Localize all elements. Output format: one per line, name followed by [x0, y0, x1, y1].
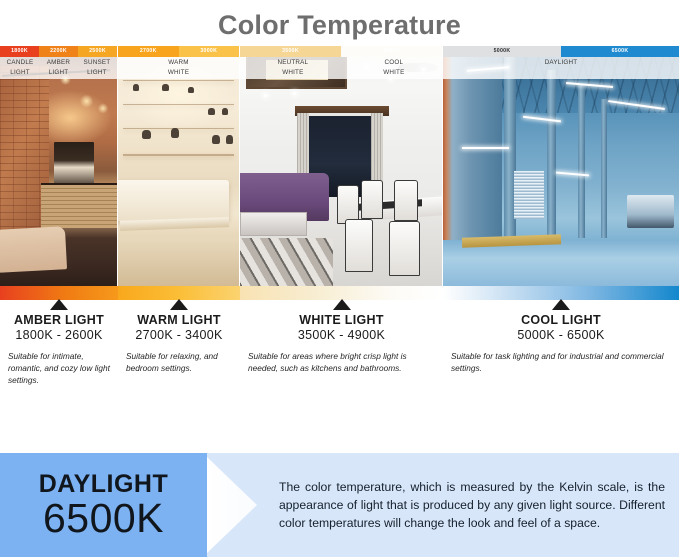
kelvin-name-neutral-white: NEUTRAL WHITE [240, 57, 346, 79]
caption-cool-light: COOL LIGHT 5000K - 6500K Suitable for ta… [443, 300, 679, 400]
caption-range: 1800K - 2600K [8, 328, 110, 342]
caption-description: Suitable for areas where bright crisp li… [248, 350, 435, 374]
panel-photo-cafe [0, 46, 117, 286]
panel-candle-amber-sunset: 1800K 2200K 2500K CANDLE LIGHT AMBER LIG… [0, 46, 118, 286]
daylight-summary-panel: DAYLIGHT 6500K The color temperature, wh… [0, 453, 679, 557]
daylight-description-text: The color temperature, which is measured… [279, 478, 665, 532]
daylight-kelvin-value: 6500K [43, 496, 164, 540]
kelvin-band-row-4: 5000K 6500K [443, 46, 679, 57]
kelvin-band-6500k: 6500K [561, 46, 679, 57]
kelvin-band-5000k: 5000K [443, 46, 561, 57]
kelvin-name-row-1: CANDLE LIGHT AMBER LIGHT SUNSET LIGHT [0, 57, 117, 79]
panel-photo-living-room [118, 46, 239, 286]
page-title: Color Temperature [0, 0, 679, 46]
kelvin-band-2200k: 2200K [39, 46, 78, 57]
kelvin-name-line2: WHITE [240, 68, 346, 78]
kelvin-name-row-4: DAYLIGHT [443, 57, 679, 79]
kelvin-band-1800k: 1800K [0, 46, 39, 57]
caption-range: 2700K - 3400K [126, 328, 232, 342]
kelvin-name-row-2: WARM WHITE [118, 57, 239, 79]
kelvin-name-line1: AMBER [40, 58, 77, 68]
chevron-right-icon [207, 453, 265, 557]
kelvin-name-line1: NEUTRAL [240, 58, 346, 68]
caption-white-light: WHITE LIGHT 3500K - 4900K Suitable for a… [240, 300, 443, 400]
panel-neutral-cool-white: 3500K 4000K NEUTRAL WHITE COOL WHITE [240, 46, 443, 286]
caption-row: AMBER LIGHT 1800K - 2600K Suitable for i… [0, 300, 679, 400]
kelvin-band-row-1: 1800K 2200K 2500K [0, 46, 117, 57]
caption-title: AMBER LIGHT [8, 313, 110, 327]
kelvin-name-line2: LIGHT [0, 68, 40, 78]
kelvin-name-line2: WHITE [346, 68, 442, 78]
daylight-description-block: The color temperature, which is measured… [207, 453, 679, 557]
kelvin-band-3500k: 3500K [240, 46, 341, 57]
panel-daylight: 5000K 6500K DAYLIGHT [443, 46, 679, 286]
marker-arrow-icon [170, 299, 188, 310]
kelvin-name-line1: CANDLE [0, 58, 40, 68]
daylight-value-block: DAYLIGHT 6500K [0, 453, 207, 557]
kelvin-name-sunset-light: SUNSET LIGHT [77, 57, 117, 79]
kelvin-band-3000k: 3000K [179, 46, 240, 57]
kelvin-band-2700k: 2700K [118, 46, 179, 57]
scale-segment-cool [443, 286, 679, 300]
kelvin-band-2500k: 2500K [78, 46, 117, 57]
kelvin-name-line1: WARM [118, 58, 239, 68]
kelvin-name-candle-light: CANDLE LIGHT [0, 57, 40, 79]
caption-description: Suitable for relaxing, and bedroom setti… [126, 350, 232, 374]
kelvin-band-row-2: 2700K 3000K [118, 46, 239, 57]
caption-title: WARM LIGHT [126, 313, 232, 327]
kelvin-name-line1: COOL [346, 58, 442, 68]
marker-arrow-icon [333, 299, 351, 310]
daylight-label: DAYLIGHT [39, 471, 168, 498]
caption-description: Suitable for task lighting and for indus… [451, 350, 671, 374]
kelvin-name-cool-white: COOL WHITE [346, 57, 442, 79]
panel-photo-dining-room [240, 46, 442, 286]
caption-range: 5000K - 6500K [451, 328, 671, 342]
scale-segment-warm [118, 286, 240, 300]
caption-amber-light: AMBER LIGHT 1800K - 2600K Suitable for i… [0, 300, 118, 400]
caption-title: WHITE LIGHT [248, 313, 435, 327]
kelvin-band-row-3: 3500K 4000K [240, 46, 442, 57]
caption-range: 3500K - 4900K [248, 328, 435, 342]
color-temperature-panels: 1800K 2200K 2500K CANDLE LIGHT AMBER LIG… [0, 46, 679, 286]
kelvin-name-warm-white: WARM WHITE [118, 57, 239, 79]
kelvin-name-line1: DAYLIGHT [443, 58, 679, 68]
kelvin-name-daylight: DAYLIGHT [443, 57, 679, 79]
caption-title: COOL LIGHT [451, 313, 671, 327]
caption-description: Suitable for intimate, romantic, and coz… [8, 350, 110, 386]
kelvin-name-row-3: NEUTRAL WHITE COOL WHITE [240, 57, 442, 79]
kelvin-name-line1: SUNSET [77, 58, 117, 68]
panel-warm-white: 2700K 3000K WARM WHITE [118, 46, 240, 286]
caption-warm-light: WARM LIGHT 2700K - 3400K Suitable for re… [118, 300, 240, 400]
marker-arrow-icon [50, 299, 68, 310]
kelvin-name-line2: LIGHT [77, 68, 117, 78]
scale-segment-amber [0, 286, 118, 300]
kelvin-name-amber-light: AMBER LIGHT [40, 57, 77, 79]
scale-segment-white [240, 286, 443, 300]
marker-arrow-icon [552, 299, 570, 310]
color-temperature-scale-bar [0, 286, 679, 300]
panel-photo-warehouse [443, 46, 679, 286]
kelvin-name-line2: LIGHT [40, 68, 77, 78]
kelvin-name-line2: WHITE [118, 68, 239, 78]
kelvin-band-4000k: 4000K [341, 46, 442, 57]
